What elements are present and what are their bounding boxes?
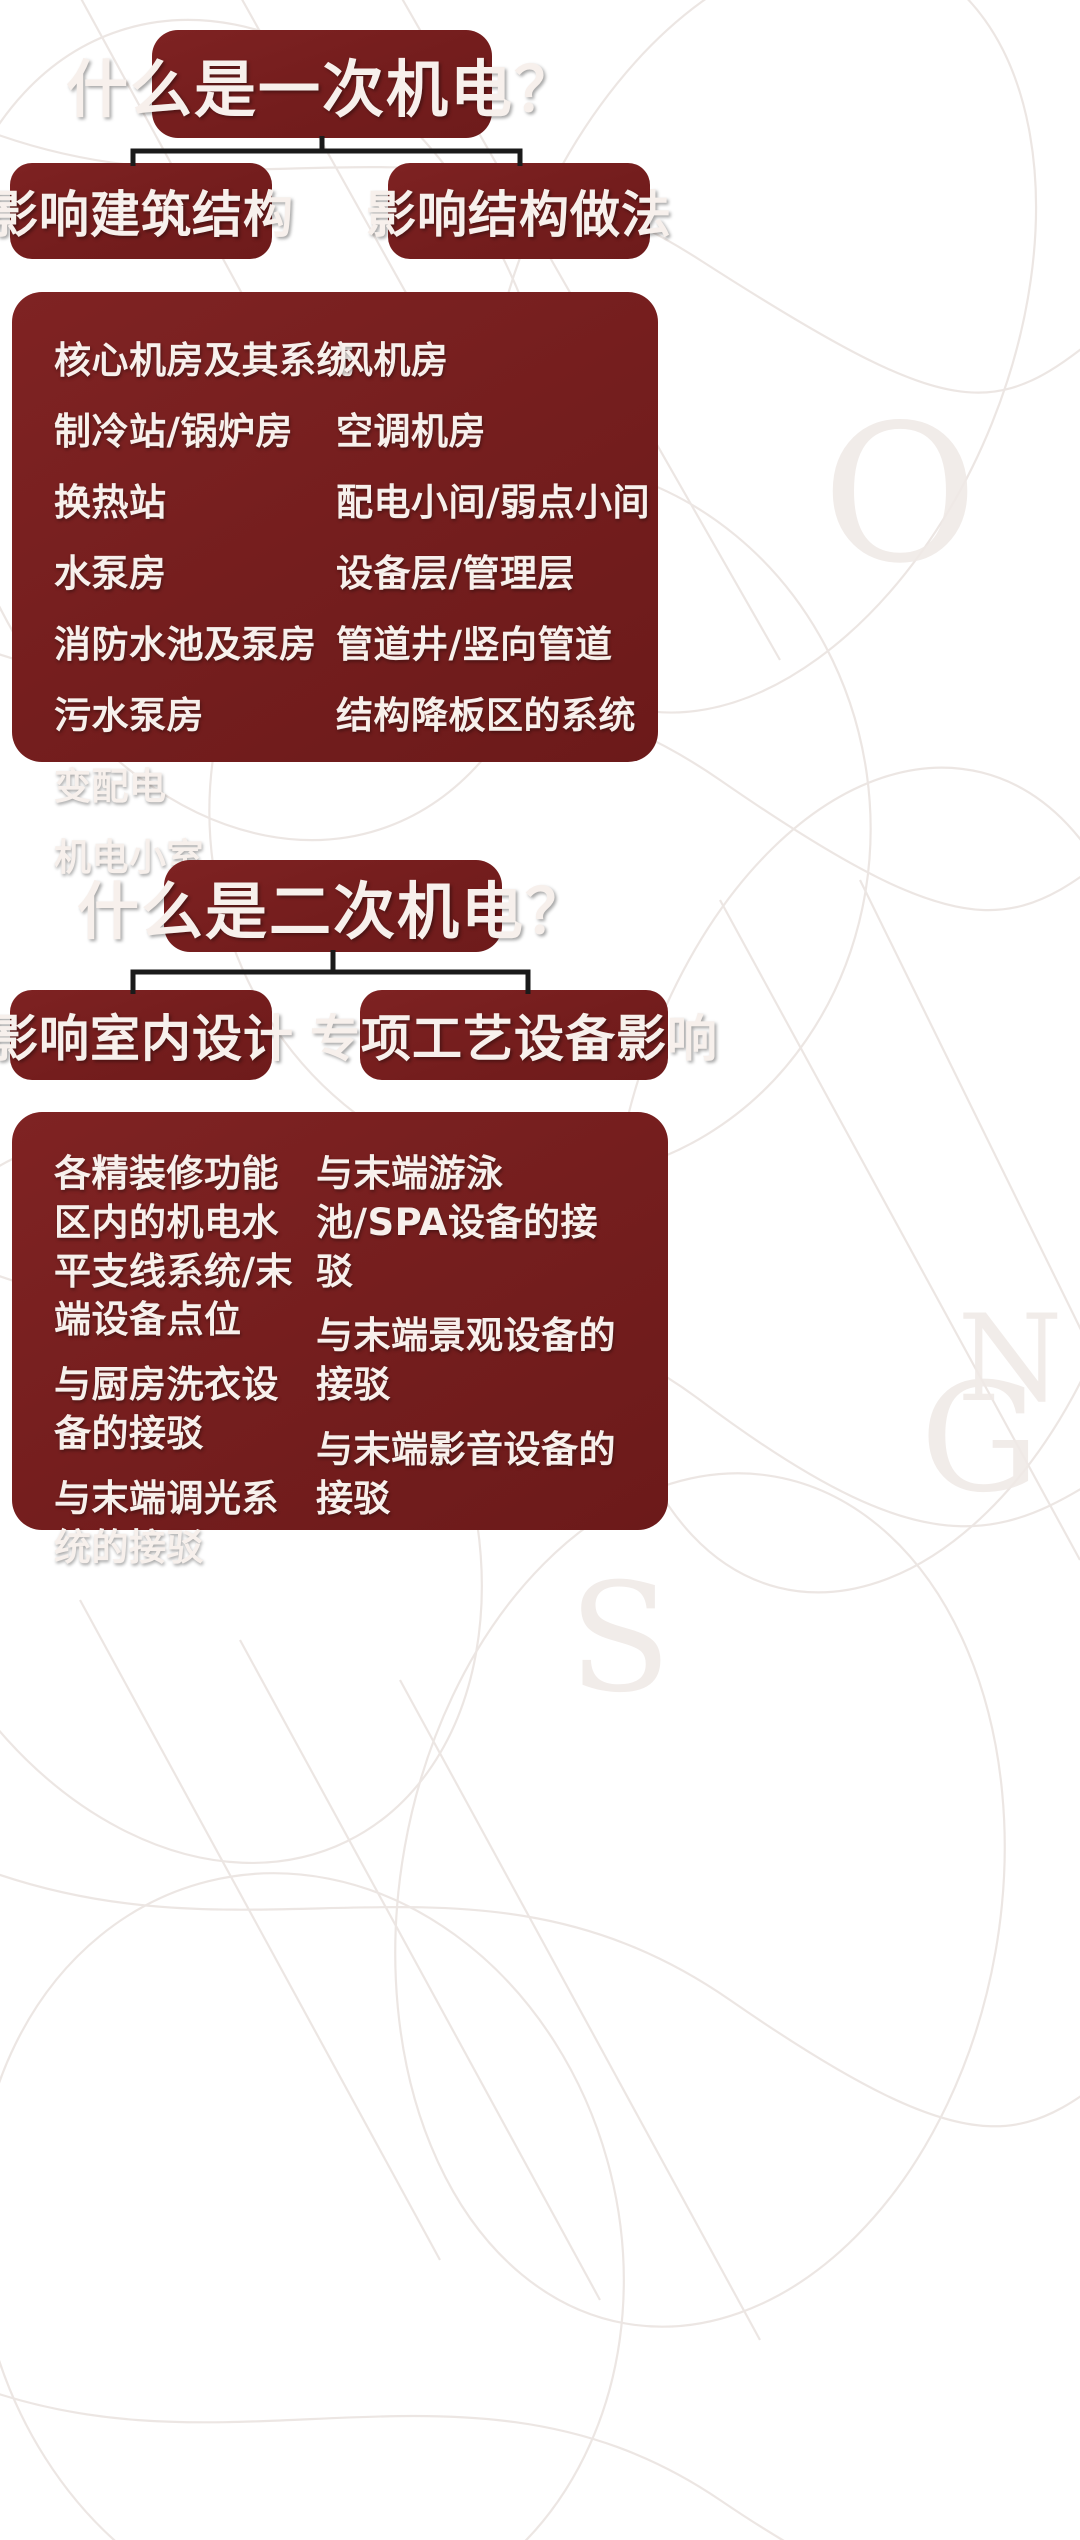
section-title-card-secondary: 什么是二次机电？	[164, 860, 502, 952]
list-item: 与厨房洗衣设备的接驳	[54, 1361, 316, 1459]
list-item: 风机房	[336, 330, 636, 384]
branch-card-secondary-2: 专项工艺设备影响	[360, 990, 668, 1080]
infographic-page: 什么是一次机电？ 影响建筑结构 影响结构做法 核心机房及其系统 制冷站/锅炉房 …	[0, 0, 1080, 2540]
list-item: 设备层/管理层	[336, 543, 636, 597]
section-title-card-primary: 什么是一次机电？	[152, 30, 492, 138]
list-item: 与末端游泳池/SPA设备的接驳	[316, 1150, 616, 1296]
section-title-text: 什么是一次机电？	[66, 39, 578, 129]
list-item: 管道井/竖向管道	[336, 614, 636, 668]
detail-panel-primary: 核心机房及其系统 制冷站/锅炉房 换热站 水泵房 消防水池及泵房 污水泵房 变配…	[12, 292, 658, 762]
detail-column-left: 各精装修功能区内的机电水平支线系统/末端设备点位 与厨房洗衣设备的接驳 与末端调…	[54, 1150, 316, 1530]
list-item: 变配电	[54, 756, 336, 810]
list-item: 结构降板区的系统	[336, 685, 636, 739]
detail-column-left: 核心机房及其系统 制冷站/锅炉房 换热站 水泵房 消防水池及泵房 污水泵房 变配…	[54, 330, 336, 762]
connector-tree-secondary	[0, 950, 680, 994]
branch-card-secondary-1: 影响室内设计	[10, 990, 272, 1080]
detail-column-right: 与末端游泳池/SPA设备的接驳 与末端景观设备的接驳 与末端影音设备的接驳	[316, 1150, 616, 1530]
branch-card-primary-1: 影响建筑结构	[10, 163, 272, 259]
list-item: 水泵房	[54, 543, 336, 597]
branch-label: 专项工艺设备影响	[310, 999, 718, 1071]
detail-panel-secondary: 各精装修功能区内的机电水平支线系统/末端设备点位 与厨房洗衣设备的接驳 与末端调…	[12, 1112, 668, 1530]
list-item: 各精装修功能区内的机电水平支线系统/末端设备点位	[54, 1150, 316, 1345]
list-item: 核心机房及其系统	[54, 330, 336, 384]
connector-tree-primary	[0, 136, 680, 166]
branch-card-primary-2: 影响结构做法	[388, 163, 650, 259]
list-item: 空调机房	[336, 401, 636, 455]
list-item: 消防水池及泵房	[54, 614, 336, 668]
branch-label: 影响结构做法	[366, 175, 672, 247]
list-item: 与末端景观设备的接驳	[316, 1312, 616, 1410]
list-item: 制冷站/锅炉房	[54, 401, 336, 455]
list-item: 与末端调光系统的接驳	[54, 1475, 316, 1573]
list-item: 污水泵房	[54, 685, 336, 739]
list-item: 换热站	[54, 472, 336, 526]
list-item: 与末端影音设备的接驳	[316, 1426, 616, 1524]
branch-label: 影响建筑结构	[0, 175, 294, 247]
section-title-text: 什么是二次机电？	[77, 861, 589, 951]
branch-label: 影响室内设计	[0, 999, 294, 1071]
list-item: 配电小间/弱点小间	[336, 472, 636, 526]
detail-column-right: 风机房 空调机房 配电小间/弱点小间 设备层/管理层 管道井/竖向管道 结构降板…	[336, 330, 636, 762]
